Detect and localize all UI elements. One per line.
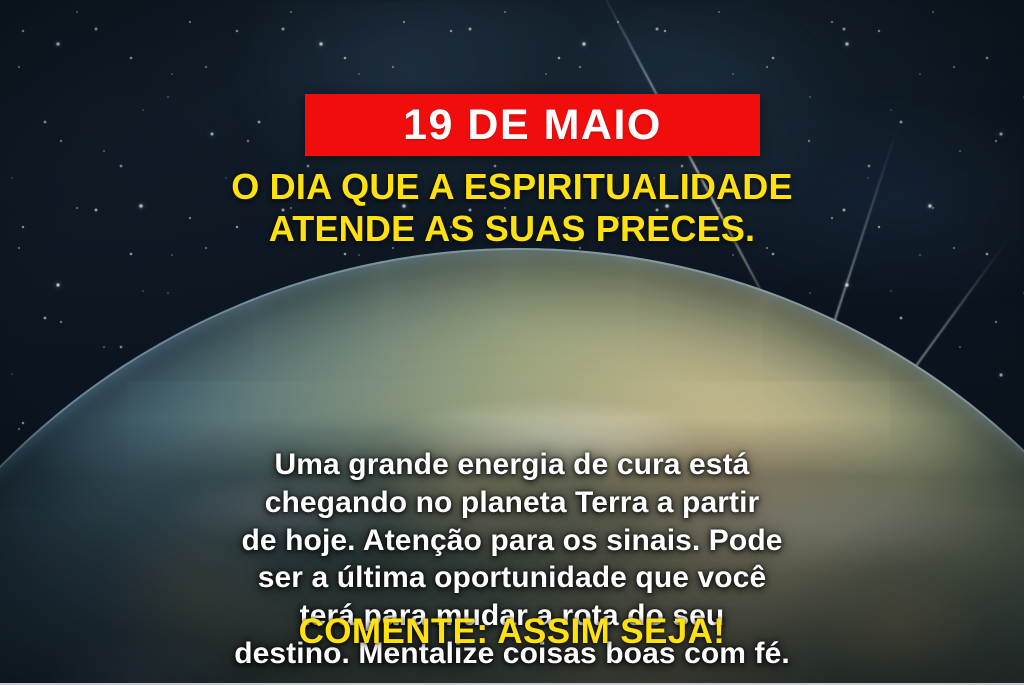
poster-content: 19 DE MAIO O DIA QUE A ESPIRITUALIDADE A… <box>0 0 1024 683</box>
body-copy-line-3: de hoje. Atenção para os sinais. Pode <box>0 522 1024 560</box>
body-copy-line-4: ser a última oportunidade que você <box>0 559 1024 597</box>
call-to-action-text: COMENTE: ASSIM SEJA! <box>0 613 1024 652</box>
poster-image: 19 DE MAIO O DIA QUE A ESPIRITUALIDADE A… <box>0 0 1024 685</box>
headline-line-2: ATENDE AS SUAS PRECES. <box>0 208 1024 250</box>
headline: O DIA QUE A ESPIRITUALIDADE ATENDE AS SU… <box>0 166 1024 250</box>
date-banner-label: 19 DE MAIO <box>403 104 662 147</box>
headline-line-1: O DIA QUE A ESPIRITUALIDADE <box>0 166 1024 208</box>
body-copy-line-1: Uma grande energia de cura está <box>0 446 1024 484</box>
body-copy-line-2: chegando no planeta Terra a partir <box>0 484 1024 522</box>
date-banner: 19 DE MAIO <box>305 94 760 156</box>
